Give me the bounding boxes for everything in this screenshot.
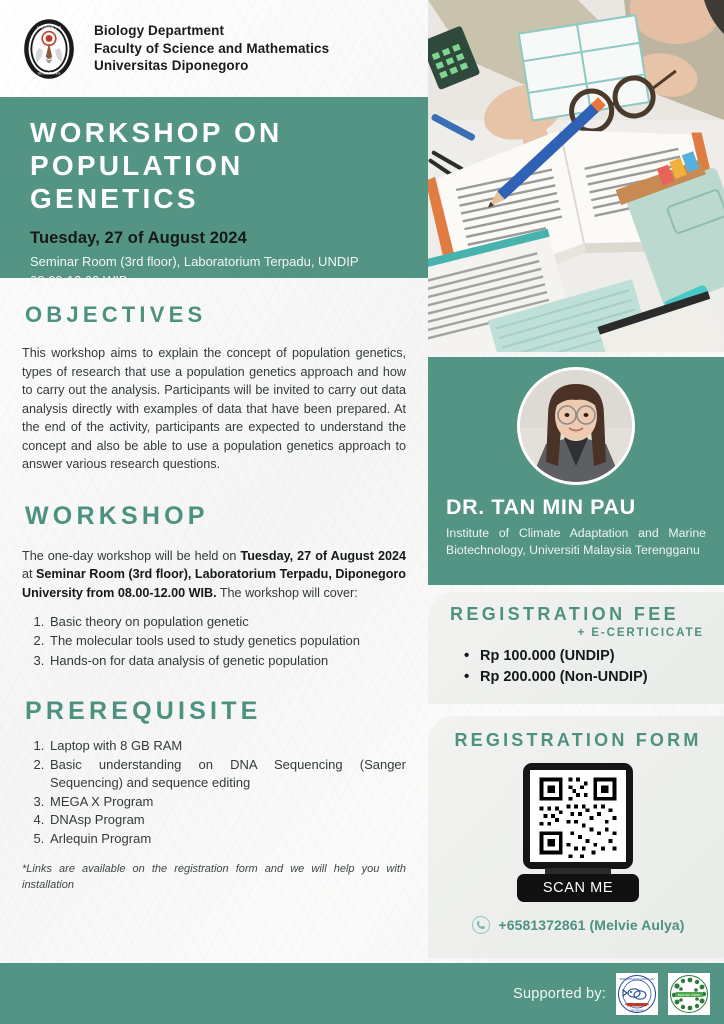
prerequisite-note: *Links are available on the registration… <box>22 862 406 894</box>
qr-section: SCAN ME <box>450 763 706 902</box>
objectives-heading: OBJECTIVES <box>25 302 406 328</box>
title-block: WORKSHOP ON POPULATION GENETICS Tuesday,… <box>0 97 428 278</box>
avatar-container <box>446 367 706 485</box>
list-item: The molecular tools used to study geneti… <box>48 632 406 650</box>
page-title: WORKSHOP ON POPULATION GENETICS <box>30 117 406 215</box>
phone-icon <box>471 915 491 935</box>
poster-header: UNIVERSITAS SEMARANG Biology Department … <box>0 0 430 97</box>
poster-footer: Supported by: PERHIMPUNAN IKHTIOLOGI IND… <box>0 963 724 1024</box>
registration-form-heading: REGISTRATION FORM <box>450 730 706 751</box>
svg-text:PERHIMPUNAN IKHTIOLOGI: PERHIMPUNAN IKHTIOLOGI <box>620 977 655 981</box>
prerequisite-list: Laptop with 8 GB RAM Basic understanding… <box>48 737 406 848</box>
list-item: MEGA X Program <box>48 793 406 811</box>
header-line-1: Biology Department <box>94 22 329 40</box>
ichthyology-society-logo-icon: PERHIMPUNAN IKHTIOLOGI INDONESIA <box>617 974 657 1014</box>
registration-fee-subheading: + E-CERTICICATE <box>450 627 706 639</box>
header-text-block: Biology Department Faculty of Science an… <box>94 22 329 76</box>
workshop-intro-mid: at <box>22 567 36 581</box>
objectives-body: This workshop aims to explain the concep… <box>22 344 406 474</box>
event-date: Tuesday, 27 of August 2024 <box>30 229 406 248</box>
workshop-intro: The one-day workshop will be held on Tue… <box>22 547 406 603</box>
svg-text:INDONESIA: INDONESIA <box>630 1008 645 1012</box>
workshop-intro-bold-1: Tuesday, 27 of August 2024 <box>240 549 406 563</box>
list-item: Hands-on for data analysis of genetic po… <box>48 652 406 670</box>
registration-fee-heading: REGISTRATION FEE <box>450 604 706 625</box>
list-item: Basic understanding on DNA Sequencing (S… <box>48 756 406 793</box>
poster: UNIVERSITAS SEMARANG Biology Department … <box>0 0 724 1024</box>
speaker-block: DR. TAN MIN PAU Institute of Climate Ada… <box>428 357 724 585</box>
header-line-2: Faculty of Science and Mathematics <box>94 40 329 58</box>
list-item: Arlequin Program <box>48 830 406 848</box>
workshop-intro-pre: The one-day workshop will be held on <box>22 549 240 563</box>
list-item: Rp 100.000 (UNDIP) <box>464 646 706 667</box>
contact-row: +6581372861 (Melvie Aulya) <box>450 915 706 935</box>
speaker-name: DR. TAN MIN PAU <box>446 495 706 520</box>
supported-by-label: Supported by: <box>513 986 606 1002</box>
speaker-portrait <box>520 370 632 482</box>
qr-code-svg <box>530 770 626 862</box>
speaker-affiliation: Institute of Climate Adaptation and Mari… <box>446 525 706 559</box>
left-content-column: OBJECTIVES This workshop aims to explain… <box>0 278 428 894</box>
svg-text:BIOLOGI UNDIP: BIOLOGI UNDIP <box>678 992 701 996</box>
registration-form-card: REGISTRATION FORM <box>428 716 724 958</box>
svg-text:UNIVERSITAS: UNIVERSITAS <box>37 25 62 29</box>
biology-community-logo-icon: BIOLOGI UNDIP <box>669 974 709 1014</box>
list-item: Rp 200.000 (Non-UNDIP) <box>464 667 706 688</box>
registration-fee-list: Rp 100.000 (UNDIP) Rp 200.000 (Non-UNDIP… <box>464 646 706 689</box>
scan-me-button[interactable]: SCAN ME <box>517 874 639 902</box>
list-item: Basic theory on population genetic <box>48 613 406 631</box>
svg-text:SEMARANG: SEMARANG <box>38 70 61 75</box>
study-desk-illustration <box>428 0 724 352</box>
supporter-logo-1: PERHIMPUNAN IKHTIOLOGI INDONESIA <box>616 973 658 1015</box>
workshop-intro-post: The workshop will cover: <box>217 586 358 600</box>
list-item: Laptop with 8 GB RAM <box>48 737 406 755</box>
prerequisite-heading: PREREQUISITE <box>25 697 406 726</box>
workshop-topics-list: Basic theory on population genetic The m… <box>48 613 406 670</box>
supporter-logo-2: BIOLOGI UNDIP <box>668 973 710 1015</box>
venue-line-1: Seminar Room (3rd floor), Laboratorium T… <box>30 254 359 269</box>
hero-photo <box>428 0 724 352</box>
avatar <box>517 367 635 485</box>
qr-code-icon[interactable] <box>530 770 626 862</box>
registration-fee-card: REGISTRATION FEE + E-CERTICICATE Rp 100.… <box>428 592 724 704</box>
workshop-heading: WORKSHOP <box>25 502 406 531</box>
contact-number[interactable]: +6581372861 (Melvie Aulya) <box>498 917 684 933</box>
list-item: DNAsp Program <box>48 811 406 829</box>
undip-logo: UNIVERSITAS SEMARANG <box>18 18 80 80</box>
header-line-3: Universitas Diponegoro <box>94 57 329 75</box>
qr-frame <box>523 763 633 869</box>
